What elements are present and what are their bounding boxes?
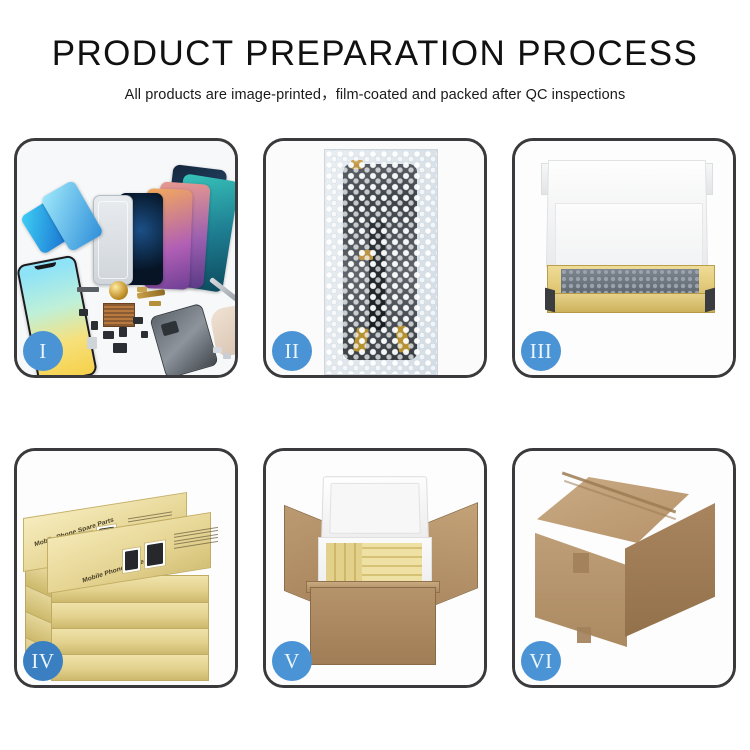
bubble-wrap-texture — [325, 150, 437, 374]
step-badge-5: V — [272, 641, 312, 681]
step-badge-3: III — [521, 331, 561, 371]
box-label-lines — [174, 527, 218, 551]
process-step-card-6[interactable]: VI — [512, 448, 736, 688]
small-component — [149, 301, 161, 306]
small-component — [77, 287, 99, 292]
box-label-window — [144, 539, 166, 569]
step-numeral-6: VI — [529, 649, 552, 674]
step-badge-1: I — [23, 331, 63, 371]
small-component — [113, 343, 127, 353]
step-badge-2: II — [272, 331, 312, 371]
page-title: PRODUCT PREPARATION PROCESS — [0, 34, 750, 74]
step-6-illustration: VI — [515, 451, 733, 685]
process-step-card-3[interactable]: III — [512, 138, 736, 378]
process-step-card-1[interactable]: I — [14, 138, 238, 378]
step-3-illustration: III — [515, 141, 733, 375]
foam-box-lid — [321, 476, 429, 541]
carton-tab — [573, 553, 589, 573]
box-corner-shadow-left — [545, 288, 555, 313]
step-numeral-2: II — [285, 339, 300, 364]
logic-board-chip — [103, 303, 135, 327]
small-component — [87, 337, 97, 349]
list-item — [51, 601, 209, 629]
step-5-illustration: V — [266, 451, 484, 685]
step-numeral-3: III — [530, 339, 552, 364]
small-component — [119, 327, 127, 337]
carton-tab — [577, 627, 591, 643]
foam-sheet — [555, 203, 703, 273]
small-component — [213, 347, 222, 353]
bubble-wrap-bag — [324, 149, 438, 375]
process-steps-grid: I II — [14, 138, 736, 688]
small-component — [141, 331, 148, 338]
box-corner-shadow-right — [705, 288, 715, 313]
process-step-card-2[interactable]: II — [263, 138, 487, 378]
tempered-glass-panel — [93, 195, 133, 285]
step-badge-6: VI — [521, 641, 561, 681]
step-numeral-1: I — [39, 339, 47, 364]
step-2-illustration: II — [266, 141, 484, 375]
vibration-motor-part — [109, 281, 128, 300]
small-component — [103, 331, 114, 339]
step-4-illustration: Mobile Phone Spare Parts Mobile Phone Sp… — [17, 451, 235, 685]
step-badge-4: IV — [23, 641, 63, 681]
yellow-box-tray-front — [547, 293, 715, 313]
list-item — [51, 627, 209, 655]
small-component — [137, 287, 147, 292]
step-numeral-5: V — [284, 649, 300, 674]
page-header: PRODUCT PREPARATION PROCESS All products… — [0, 0, 750, 104]
process-step-card-4[interactable]: Mobile Phone Spare Parts Mobile Phone Sp… — [14, 448, 238, 688]
box-label-window — [122, 546, 141, 574]
page-subtitle: All products are image-printed，film-coat… — [0, 83, 750, 104]
small-component — [79, 309, 88, 316]
step-1-illustration: I — [17, 141, 235, 375]
small-component — [91, 321, 98, 330]
list-item — [51, 653, 209, 681]
open-kraft-carton — [310, 587, 436, 665]
step-numeral-4: IV — [31, 649, 54, 674]
process-step-card-5[interactable]: V — [263, 448, 487, 688]
yellow-boxes-inside-row2 — [362, 543, 422, 583]
small-component — [133, 317, 143, 324]
small-component — [223, 353, 231, 359]
